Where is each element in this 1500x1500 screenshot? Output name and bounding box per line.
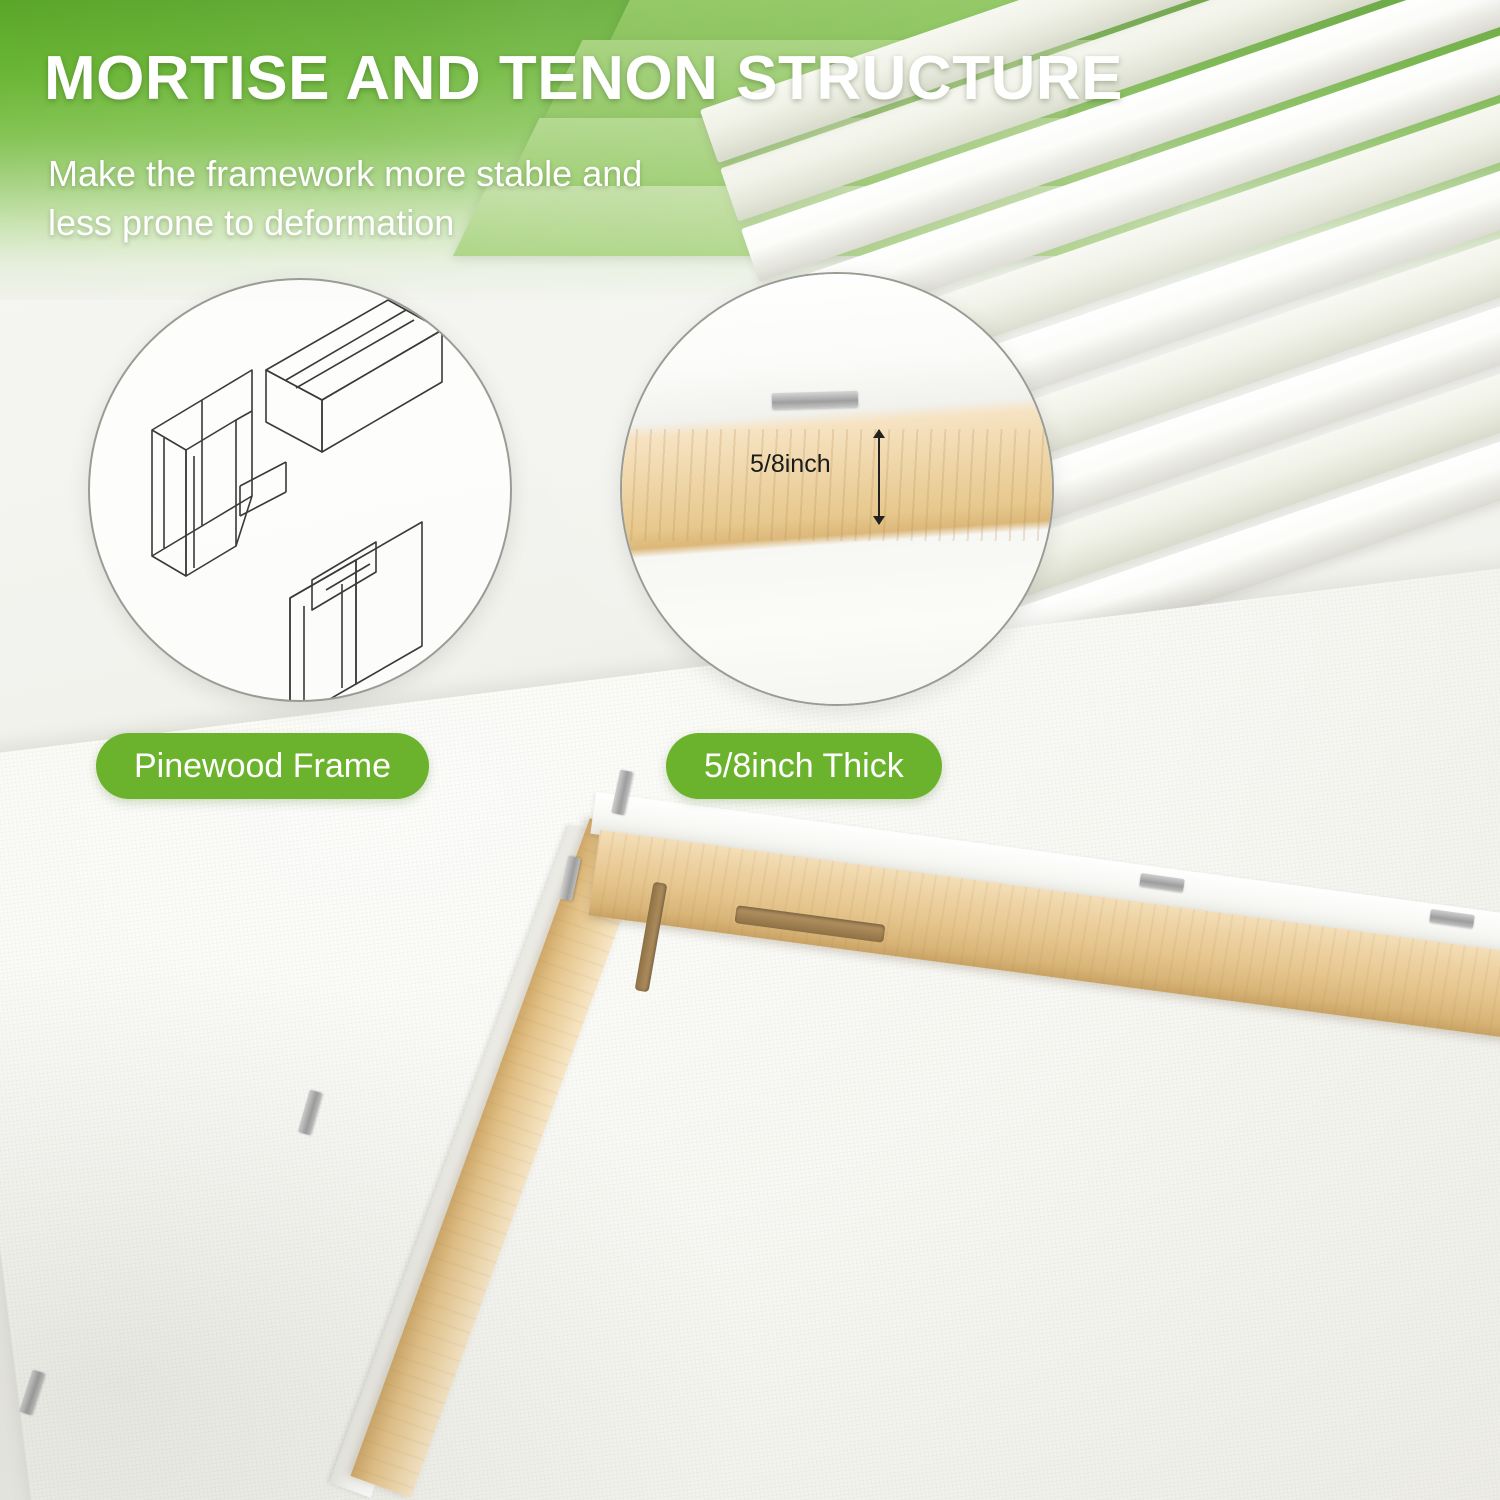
canvas-edge-closeup: 5/8inch [622,274,1052,704]
subheadline: Make the framework more stable and less … [48,150,642,248]
headline: MORTISE AND TENON STRUCTURE [44,48,1123,110]
callout-bubble-thickness: 5/8inch [620,272,1054,706]
wood-grain-texture [622,429,1052,541]
subheadline-line-1: Make the framework more stable and [48,150,642,199]
staple [772,391,858,409]
mortise-tenon-diagram [90,280,510,700]
callout-bubble-pinewood-frame [88,278,512,702]
label-thickness: 5/8inch Thick [666,733,942,799]
subheadline-line-2: less prone to deformation [48,199,642,248]
zoom-photo: 5/8inch [622,274,1052,704]
dimension-arrow [878,430,880,524]
dimension-label: 5/8inch [750,450,831,479]
product-infographic: MORTISE AND TENON STRUCTURE Make the fra… [0,0,1500,1500]
label-pinewood-frame: Pinewood Frame [96,733,429,799]
